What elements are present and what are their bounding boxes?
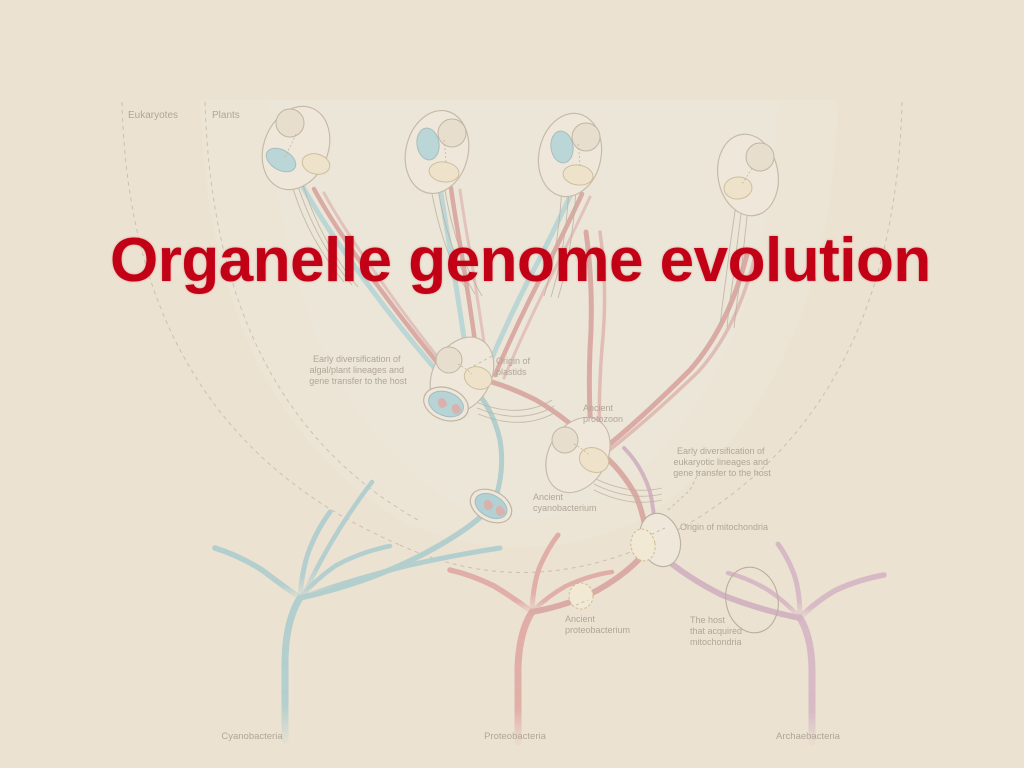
proteobacteria-lineage — [450, 535, 612, 742]
annotation-ancient-proteobacterium: Ancient proteobacterium — [565, 614, 630, 635]
archaebacteria-lineage — [728, 544, 884, 742]
label-proteobacteria: Proteobacteria — [484, 731, 547, 742]
annotation-early-div-eukaryotic: Early diversification of eukaryotic line… — [673, 446, 771, 478]
bottom-labels: Cyanobacteria Proteobacteria Archaebacte… — [221, 731, 840, 742]
label-archaebacteria: Archaebacteria — [776, 731, 841, 742]
label-plants: Plants — [212, 110, 240, 121]
annotation-origin-of-mitochondria: Origin of mitochondria — [680, 522, 768, 532]
presentation-slide: Eukaryotes Plants Early diversification … — [0, 0, 1024, 768]
ancient-proteobacterium-cell — [569, 583, 593, 609]
host-lineage-branch — [662, 556, 800, 618]
annotation-early-div-algal: Early diversification of algal/plant lin… — [309, 354, 407, 386]
diagram-svg: Eukaryotes Plants Early diversification … — [0, 0, 1024, 768]
endosymbiosis-diagram: Eukaryotes Plants Early diversification … — [0, 0, 1024, 768]
label-cyanobacteria: Cyanobacteria — [221, 731, 283, 742]
domain-labels: Eukaryotes Plants — [128, 110, 240, 121]
label-eukaryotes: Eukaryotes — [128, 110, 178, 121]
annotation-the-host: The host that acquired mitochondria — [690, 615, 745, 647]
